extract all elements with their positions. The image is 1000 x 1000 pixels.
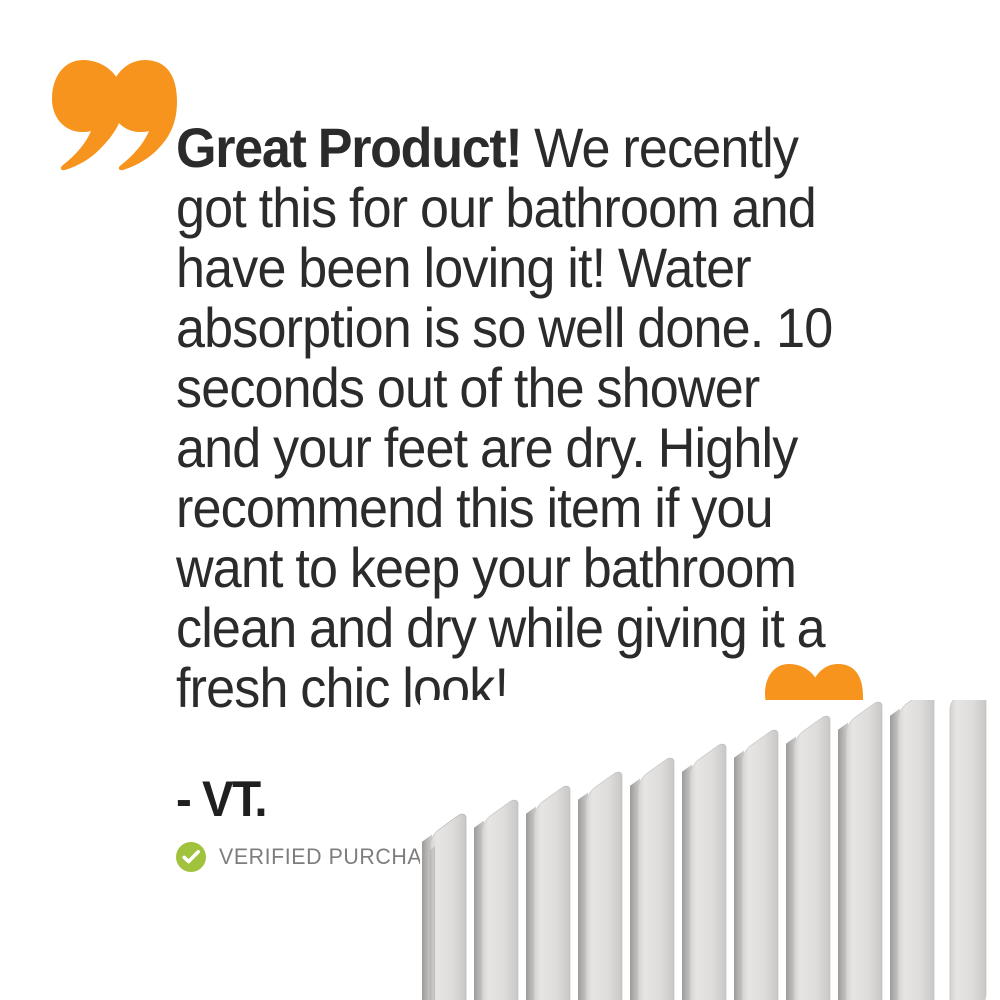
review-paragraph: Great Product! We recently got this for … [176,118,855,718]
attribution: - VT. VERIFIED PURCHASE [176,772,459,872]
review-text-block: Great Product! We recently got this for … [176,118,906,718]
review-title: Great Product! [176,116,521,179]
quote-open-icon [52,58,177,173]
review-body-text: We recently got this for our bathroom an… [176,116,832,719]
verified-purchase-badge: VERIFIED PURCHASE [176,842,459,872]
testimonial-card: Great Product! We recently got this for … [0,0,1000,1000]
check-circle-icon [176,842,206,872]
verified-purchase-label: VERIFIED PURCHASE [219,844,452,870]
product-image-slatted-bath-mat [420,700,1000,1000]
quote-close-icon [765,662,863,752]
review-author: - VT. [176,772,445,826]
